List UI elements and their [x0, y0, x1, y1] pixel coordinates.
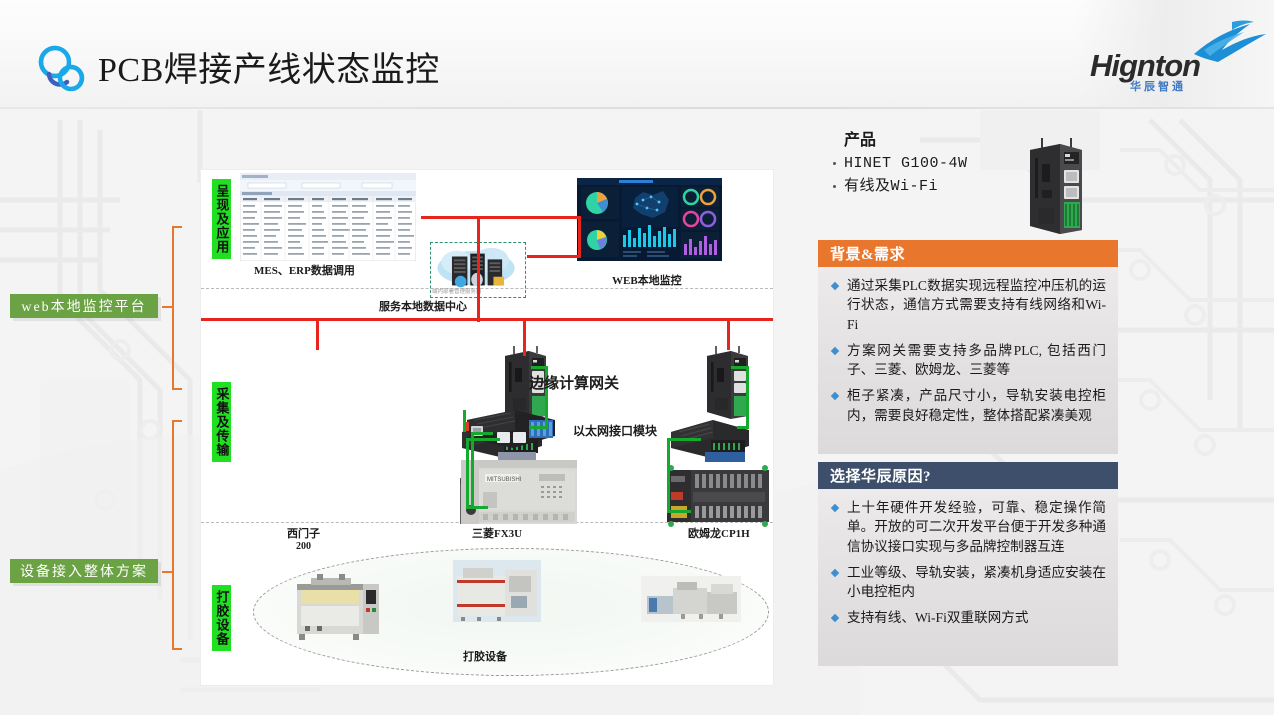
slide-root: PCB焊接产线状态监控 Hignton 华辰智通 产品 HINET G100-4…	[0, 0, 1274, 715]
label-plc-mitsubishi: 三菱FX3U	[472, 525, 522, 541]
reason-section-header: 选择华辰原因?	[818, 462, 1118, 489]
wire-cloud-up	[477, 216, 480, 298]
vertical-label-dispensing: 打胶设备	[212, 585, 231, 651]
plc-model: 200	[287, 541, 320, 552]
wire-bus-to-left-gw	[316, 318, 319, 350]
brand-logo-icon	[33, 42, 91, 98]
wire-web-down	[578, 216, 581, 258]
wire-mes-to-web	[421, 216, 581, 219]
wire-datacenter-bus	[201, 318, 773, 321]
label-plc-siemens: 西门子 200	[287, 525, 320, 552]
wire-adapter-omron	[667, 438, 670, 512]
company-logo: Hignton 华辰智通	[1090, 26, 1240, 98]
product-item: HINET G100-4W	[830, 153, 1040, 176]
product-list: HINET G100-4W 有线及Wi-Fi	[830, 153, 1040, 198]
label-plc-omron: 欧姆龙CP1H	[688, 525, 750, 541]
wire-gw-to-eth-drop	[463, 410, 466, 432]
product-item: 有线及Wi-Fi	[830, 176, 1040, 199]
wire-eth-to-mitsubishi-top	[471, 432, 493, 435]
cloud-caption: 端内部署管理服务器	[432, 287, 482, 295]
background-bullet-list: 通过采集PLC数据实现远程监控冲压机的运行状态，通信方式需要支持有线网络和Wi-…	[830, 276, 1106, 425]
label-mes-erp: MES、ERP数据调用	[254, 262, 355, 278]
wire-gw-adapter-left-top	[531, 366, 548, 369]
machine-photo-2	[453, 560, 541, 622]
wire-bus-to-right-gw	[727, 318, 730, 350]
product-title: 产品	[844, 126, 1040, 150]
mes-erp-table-screenshot	[240, 173, 416, 261]
background-bullet: 方案网关需要支持多品牌PLC, 包括西门子、三菱、欧姆龙、三菱等	[830, 341, 1106, 380]
wire-adapter-omron-bot	[667, 510, 691, 513]
right-adapter-module-photo	[663, 414, 759, 469]
omron-plc-photo	[663, 462, 773, 530]
product-photo-gateway	[1022, 138, 1088, 236]
label-dispensing-equipment: 打胶设备	[463, 648, 507, 664]
bracket-upper	[172, 226, 182, 390]
wire-gw-adapter-right	[746, 366, 749, 428]
wire-gw-adapter-left-bot	[529, 426, 548, 429]
sidebar-chip-web-platform: web本地监控平台	[10, 294, 158, 318]
background-bullet: 通过采集PLC数据实现远程监控冲压机的运行状态，通信方式需要支持有线网络和Wi-…	[830, 276, 1106, 334]
reason-bullet: 支持有线、Wi-Fi双重联网方式	[830, 608, 1106, 627]
slide-header: PCB焊接产线状态监控 Hignton 华辰智通	[0, 0, 1274, 108]
label-edge-gateway: 边缘计算网关	[529, 372, 619, 393]
bracket-upper-tick	[162, 306, 174, 308]
label-ethernet-module: 以太网接口模块	[573, 422, 657, 439]
background-section-body: 通过采集PLC数据实现远程监控冲压机的运行状态，通信方式需要支持有线网络和Wi-…	[818, 267, 1118, 454]
vertical-label-collection: 采集及传输	[212, 382, 231, 462]
svg-text:MITSUBISHI: MITSUBISHI	[487, 477, 522, 483]
wire-eth-to-mitsubishi	[471, 432, 474, 506]
bracket-lower	[172, 420, 182, 650]
machine-photo-3	[641, 576, 741, 622]
reason-bullet: 上十年硬件开发经验，可靠、稳定操作简单。开放的可二次开发平台便于开发多种通信协议…	[830, 498, 1106, 556]
product-block: 产品 HINET G100-4W 有线及Wi-Fi	[830, 126, 1040, 198]
label-data-center: 服务本地数据中心	[379, 298, 467, 314]
plc-name: 西门子	[287, 528, 320, 540]
wire-adapter-plc-left	[466, 438, 469, 508]
reason-bullet-list: 上十年硬件开发经验，可靠、稳定操作简单。开放的可二次开发平台便于开发多种通信协议…	[830, 498, 1106, 628]
bracket-lower-tick	[162, 571, 174, 573]
header-divider	[0, 107, 1274, 109]
machine-photo-1	[287, 570, 381, 642]
logo-chinese-name: 华辰智通	[1130, 78, 1186, 94]
background-bullet: 柜子紧凑，产品尺寸小，导轨安装电控柜内，需要良好稳定性，整体搭配紧凑美观	[830, 386, 1106, 425]
web-dashboard-screenshot	[577, 178, 722, 261]
wire-web-to-cloud	[527, 255, 581, 258]
page-title: PCB焊接产线状态监控	[98, 42, 440, 91]
wire-gw-adapter-right-bot	[737, 426, 749, 429]
reason-bullet: 工业等级、导轨安装，紧凑机身适应安装在小电控柜内	[830, 563, 1106, 602]
mitsubishi-plc-photo: MITSUBISHI	[457, 456, 581, 528]
label-web-monitor: WEB本地监控	[612, 272, 682, 288]
wire-gw-adapter-right-top	[731, 366, 749, 369]
wire-adapter-plc-left-bot	[466, 506, 488, 509]
vertical-label-presentation: 呈现及应用	[212, 179, 231, 259]
sidebar-chip-device-access: 设备接入整体方案	[10, 559, 158, 583]
background-section-header: 背景&需求	[818, 240, 1118, 267]
wire-adapter-omron-top	[667, 438, 701, 441]
wire-bus-to-gateway	[523, 318, 526, 356]
architecture-diagram-panel: MES、ERP数据调用	[201, 170, 773, 685]
reason-section-body: 上十年硬件开发经验，可靠、稳定操作简单。开放的可二次开发平台便于开发多种通信协议…	[818, 489, 1118, 666]
wire-cloud-to-bus	[477, 292, 480, 322]
